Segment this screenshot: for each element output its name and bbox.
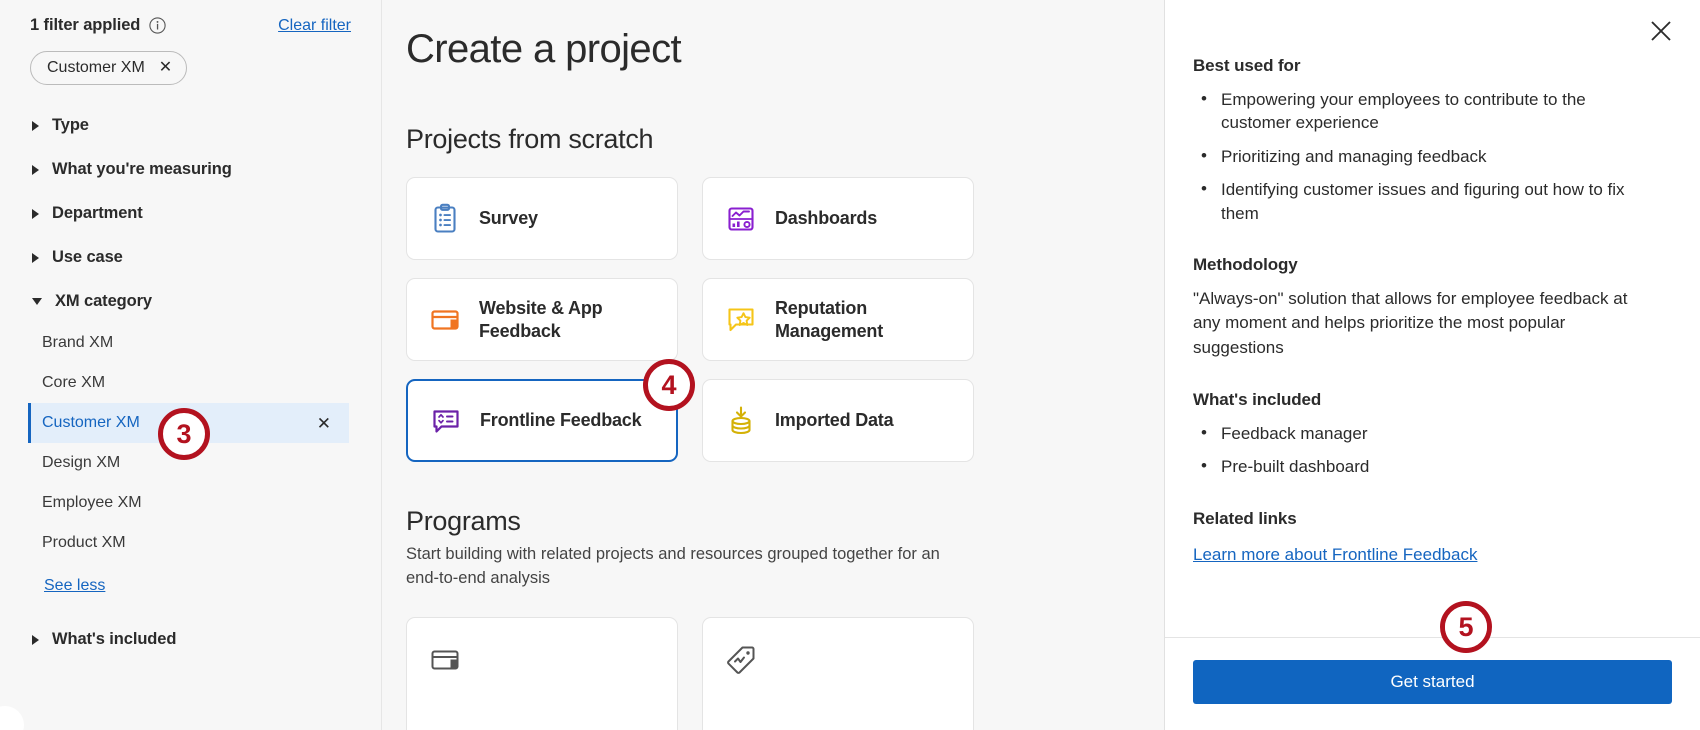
facet-type[interactable]: Type	[30, 103, 351, 147]
chevron-right-icon	[32, 253, 39, 263]
methodology-text: "Always-on" solution that allows for emp…	[1193, 287, 1652, 359]
filter-status-text: 1 filter applied	[30, 16, 140, 35]
get-started-button[interactable]: Get started	[1193, 660, 1672, 704]
card-label: Reputation Management	[775, 297, 955, 342]
project-card-dashboards[interactable]: Dashboards	[702, 177, 974, 260]
option-label: Brand XM	[42, 334, 113, 352]
option-remove-icon[interactable]: ✕	[317, 415, 331, 432]
info-icon[interactable]	[149, 17, 166, 34]
facet-whats-included[interactable]: What's included	[30, 617, 351, 661]
details-panel-body: Best used for Empowering your employees …	[1165, 0, 1700, 637]
filter-status-group: 1 filter applied	[30, 16, 166, 35]
list-item: Empowering your employees to contribute …	[1197, 88, 1652, 135]
card-label: Dashboards	[775, 207, 877, 229]
facet-what-youre-measuring[interactable]: What you're measuring	[30, 147, 351, 191]
list-item: Identifying customer issues and figuring…	[1197, 178, 1652, 225]
filter-option-design-xm[interactable]: Design XM	[28, 443, 351, 483]
page-title: Create a project	[406, 26, 1164, 72]
filter-sidebar: 1 filter applied Clear filter Customer X…	[0, 0, 381, 730]
option-label: Customer XM	[42, 414, 140, 432]
programs-subtitle: Start building with related projects and…	[406, 543, 976, 591]
chevron-right-icon	[32, 635, 39, 645]
facet-label: What's included	[52, 630, 176, 649]
database-import-icon	[725, 405, 757, 437]
project-card-frontline-feedback[interactable]: Frontline Feedback	[406, 379, 678, 462]
clear-filter-link[interactable]: Clear filter	[278, 17, 351, 35]
programs-grid	[406, 617, 1164, 730]
tag-chart-gray-icon	[725, 644, 757, 676]
filter-option-employee-xm[interactable]: Employee XM	[28, 483, 351, 523]
filter-header: 1 filter applied Clear filter	[30, 16, 351, 35]
related-links-heading: Related links	[1193, 509, 1652, 529]
project-card-survey[interactable]: Survey	[406, 177, 678, 260]
project-card-reputation-management[interactable]: Reputation Management	[702, 278, 974, 361]
card-label: Frontline Feedback	[480, 409, 641, 431]
active-filter-chip[interactable]: Customer XM ✕	[30, 51, 187, 85]
whats-included-list: Feedback manager Pre-built dashboard	[1197, 422, 1652, 479]
filter-option-core-xm[interactable]: Core XM	[28, 363, 351, 403]
chevron-right-icon	[32, 209, 39, 219]
card-label: Survey	[479, 207, 538, 229]
option-label: Product XM	[42, 534, 126, 552]
chevron-down-icon	[32, 298, 42, 305]
see-less-link[interactable]: See less	[44, 577, 105, 595]
facet-xm-category[interactable]: XM category	[30, 279, 351, 323]
projects-from-scratch-heading: Projects from scratch	[406, 124, 1164, 155]
methodology-heading: Methodology	[1193, 255, 1652, 275]
card-label: Imported Data	[775, 409, 893, 431]
facet-label: Type	[52, 116, 89, 135]
facet-label: Use case	[52, 248, 123, 267]
bottom-left-corner-decoration	[0, 706, 24, 730]
whats-included-heading: What's included	[1193, 390, 1652, 410]
option-label: Core XM	[42, 374, 105, 392]
chevron-right-icon	[32, 165, 39, 175]
details-panel-footer: Get started	[1165, 637, 1700, 730]
xm-category-options: Brand XM Core XM Customer XM ✕ Design XM…	[30, 323, 351, 563]
details-panel: Best used for Empowering your employees …	[1164, 0, 1700, 730]
list-item: Pre-built dashboard	[1197, 455, 1652, 478]
filter-option-brand-xm[interactable]: Brand XM	[28, 323, 351, 363]
chip-remove-icon[interactable]: ✕	[159, 60, 172, 76]
project-card-imported-data[interactable]: Imported Data	[702, 379, 974, 462]
list-item: Feedback manager	[1197, 422, 1652, 445]
facet-use-case[interactable]: Use case	[30, 235, 351, 279]
list-item: Prioritizing and managing feedback	[1197, 145, 1652, 168]
option-label: Design XM	[42, 454, 120, 472]
speech-list-icon	[430, 405, 462, 437]
chevron-right-icon	[32, 121, 39, 131]
chip-label: Customer XM	[47, 59, 145, 77]
main-content: Create a project Projects from scratch S…	[381, 0, 1164, 730]
learn-more-link[interactable]: Learn more about Frontline Feedback	[1193, 545, 1477, 565]
close-icon[interactable]	[1648, 18, 1674, 44]
programs-heading: Programs	[406, 506, 1164, 537]
project-card-website-app-feedback[interactable]: Website & App Feedback	[406, 278, 678, 361]
card-label: Website & App Feedback	[479, 297, 659, 342]
best-used-for-list: Empowering your employees to contribute …	[1197, 88, 1652, 225]
clipboard-icon	[429, 203, 461, 235]
dashboard-chart-icon	[725, 203, 757, 235]
program-card-2[interactable]	[702, 617, 974, 730]
project-type-grid: Survey Dashboards	[406, 177, 1164, 462]
speech-star-icon	[725, 304, 757, 336]
facet-department[interactable]: Department	[30, 191, 351, 235]
option-label: Employee XM	[42, 494, 142, 512]
facet-label: Department	[52, 204, 143, 223]
best-used-for-heading: Best used for	[1193, 56, 1652, 76]
facet-label: XM category	[55, 292, 152, 311]
program-card-1[interactable]	[406, 617, 678, 730]
create-project-screen: 1 filter applied Clear filter Customer X…	[0, 0, 1700, 730]
browser-window-icon	[429, 304, 461, 336]
filter-option-product-xm[interactable]: Product XM	[28, 523, 351, 563]
filter-option-customer-xm[interactable]: Customer XM ✕	[28, 403, 349, 443]
browser-window-gray-icon	[429, 644, 461, 676]
facet-label: What you're measuring	[52, 160, 232, 179]
